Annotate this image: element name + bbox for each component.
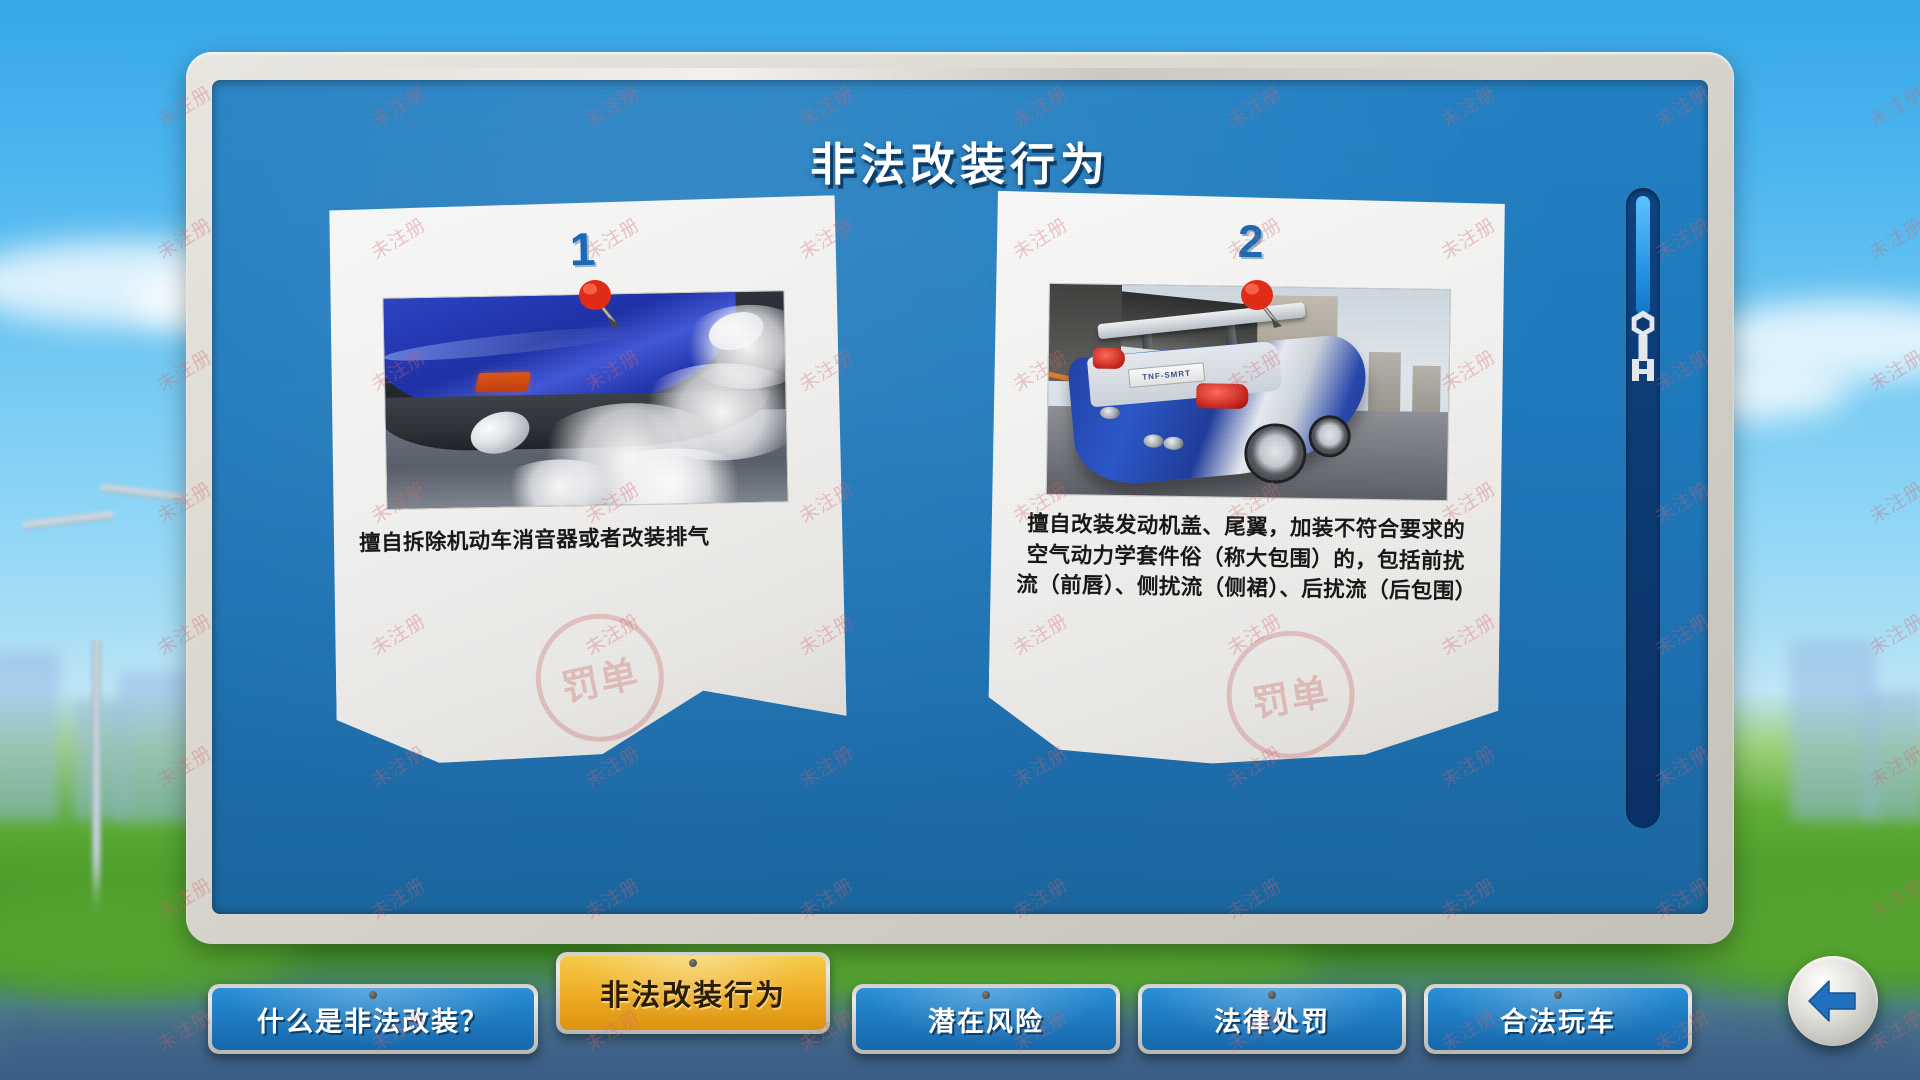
watermark-text: 未注册 — [579, 0, 644, 1]
red-pushpin-icon — [1238, 276, 1294, 340]
fine-stamp: 罚单 — [524, 602, 676, 754]
tab-stud — [982, 991, 990, 999]
card-number: 1 — [327, 221, 838, 277]
tab-illegal-modification-behaviors[interactable]: 非法改装行为 — [556, 952, 830, 1034]
watermark-text: 未注册 — [0, 474, 3, 529]
watermark-text: 未注册 — [0, 606, 3, 661]
card-caption: 擅自改装发动机盖、尾翼，加装不符合要求的空气动力学套件俗（称大包围）的，包括前扰… — [1016, 508, 1475, 607]
watermark-text: 未注册 — [1863, 78, 1920, 133]
watermark-text: 未注册 — [0, 78, 3, 133]
tab-stud — [1268, 991, 1276, 999]
watermark-text: 未注册 — [0, 210, 3, 265]
streetlight-pole — [92, 640, 101, 970]
exhaust-tip — [1143, 434, 1163, 447]
watermark-text: 未注册 — [1863, 0, 1920, 1]
tab-legal-penalties[interactable]: 法律处罚 — [1138, 984, 1406, 1054]
watermark-text: 未注册 — [1863, 342, 1920, 397]
watermark-text: 未注册 — [1007, 0, 1072, 1]
watermark-text: 未注册 — [1863, 474, 1920, 529]
tab-stud — [689, 959, 697, 967]
taillight — [1196, 383, 1248, 409]
fine-stamp: 罚单 — [1216, 620, 1364, 767]
wrench-icon[interactable] — [1627, 309, 1659, 391]
tab-stud — [1554, 991, 1562, 999]
scrollbar-fill — [1636, 196, 1650, 315]
watermark-text: 未注册 — [1863, 870, 1920, 925]
content-panel-frame: 非法改装行为 1 擅自拆除机动车消 — [186, 52, 1734, 944]
back-button[interactable] — [1788, 956, 1878, 1046]
watermark-text: 未注册 — [0, 870, 3, 925]
scrollbar-track[interactable] — [1626, 188, 1660, 828]
bumper-reflector — [475, 372, 531, 392]
watermark-text: 未注册 — [1435, 0, 1500, 1]
car-wheel — [1311, 418, 1348, 454]
watermark-text: 未注册 — [1649, 0, 1714, 1]
tab-stud — [369, 991, 377, 999]
tab-legal-car-modding[interactable]: 合法玩车 — [1424, 984, 1692, 1054]
building-silhouette — [1790, 640, 1876, 820]
building-silhouette — [0, 650, 60, 820]
red-pushpin-icon — [576, 276, 632, 340]
watermark-text: 未注册 — [1863, 210, 1920, 265]
exhaust-tip — [1163, 437, 1183, 450]
tab-label: 非法改装行为 — [560, 956, 826, 1030]
card-caption: 擅自拆除机动车消音器或者改装排气 — [359, 520, 818, 559]
app-root: 非法改装行为 1 擅自拆除机动车消 — [0, 0, 1920, 1080]
watermark-text: 未注册 — [1221, 0, 1286, 1]
watermark-text: 未注册 — [151, 0, 216, 1]
page-title: 非法改装行为 — [212, 128, 1708, 193]
content-panel: 非法改装行为 1 擅自拆除机动车消 — [212, 80, 1708, 914]
building-silhouette — [118, 672, 196, 822]
watermark-text: 未注册 — [0, 738, 3, 793]
watermark-text: 未注册 — [0, 342, 3, 397]
watermark-text: 未注册 — [1863, 606, 1920, 661]
watermark-text: 未注册 — [1863, 738, 1920, 793]
bottom-tabbar: 什么是非法改装？ 非法改装行为 潜在风险 法律处罚 合法玩车 — [0, 974, 1920, 1060]
card-number: 2 — [995, 214, 1506, 268]
tab-potential-risks[interactable]: 潜在风险 — [852, 984, 1120, 1054]
arrow-left-icon — [1805, 975, 1861, 1027]
streetlight-arm — [22, 510, 114, 529]
taillight — [1093, 348, 1125, 370]
watermark-text: 未注册 — [365, 0, 430, 1]
tab-what-is-illegal-modification[interactable]: 什么是非法改装？ — [208, 984, 538, 1054]
building-silhouette — [72, 700, 126, 820]
building-silhouette — [1866, 690, 1920, 820]
watermark-text: 未注册 — [793, 0, 858, 1]
watermark-text: 未注册 — [0, 0, 3, 1]
